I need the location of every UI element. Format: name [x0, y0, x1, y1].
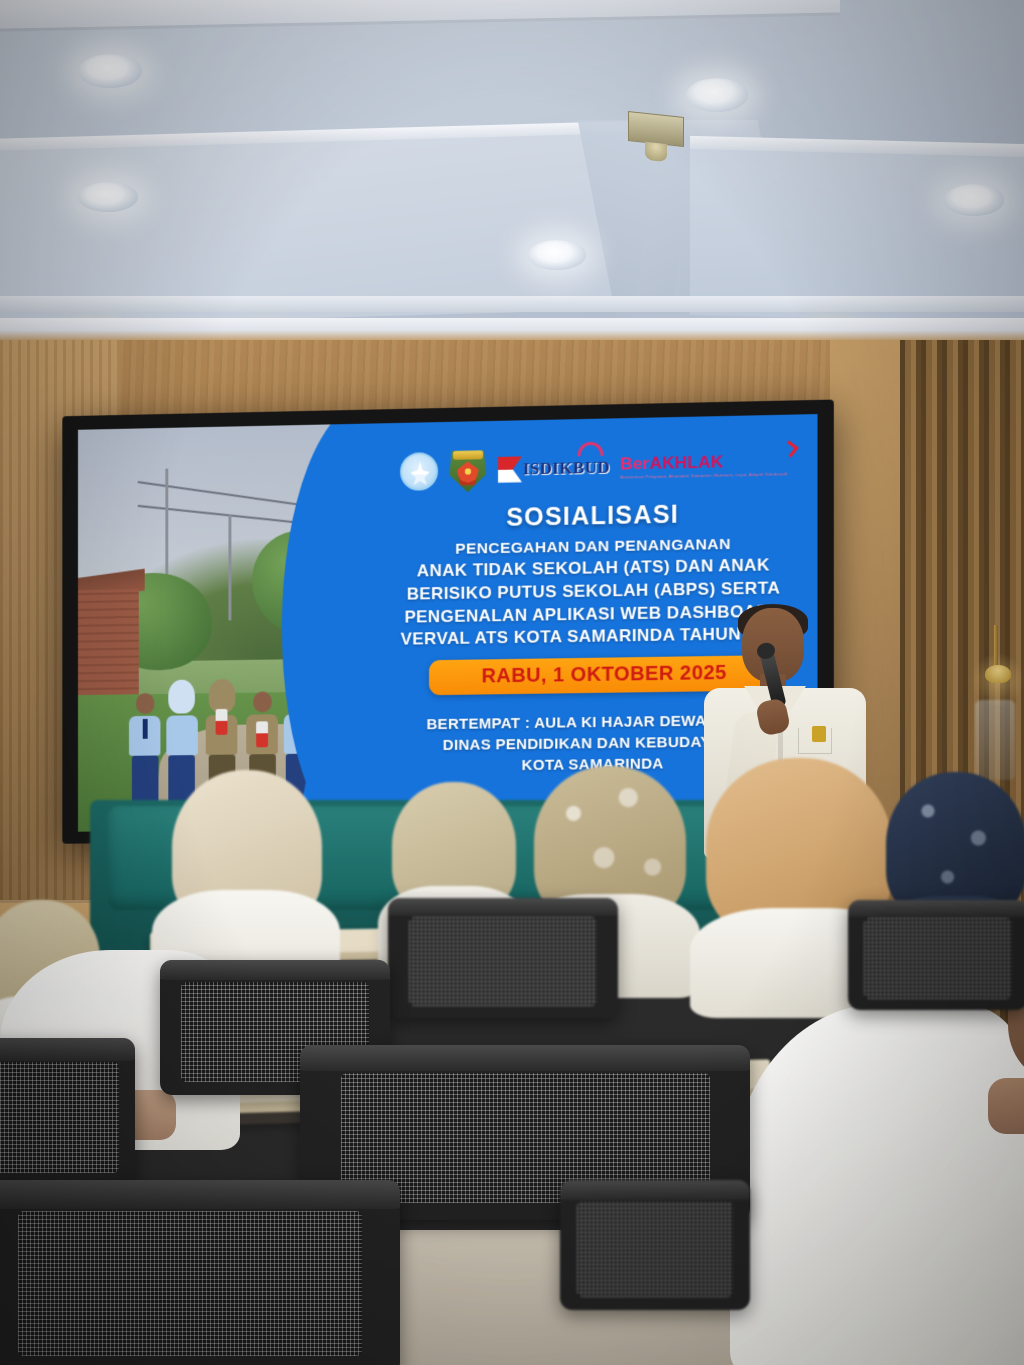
disdikbud-logo-icon: ISDIKBUD: [498, 452, 610, 484]
mesh-chair[interactable]: [0, 1038, 135, 1188]
photo-utility-pole: [229, 515, 232, 620]
ceiling-downlight: [78, 54, 142, 88]
berakhlak-prefix: Ber: [620, 453, 649, 473]
wall-sconce-icon: [985, 625, 1011, 695]
ceiling-slab-upper: [0, 0, 840, 32]
shoulders: [730, 1004, 1024, 1365]
meeting-room-photo: ISDIKBUD BerAKHLAK Berorientasi Pelayana…: [0, 0, 1024, 1365]
ceiling-downlight: [78, 182, 138, 212]
disdikbud-label: ISDIKBUD: [523, 457, 610, 479]
hand: [988, 1078, 1024, 1134]
samarinda-emblem-icon: [448, 448, 488, 493]
ceiling-downlight: [944, 184, 1004, 216]
berakhlak-main: AKHLAK: [649, 452, 723, 473]
berakhlak-logo-icon: BerAKHLAK Berorientasi Pelayanan, Akunta…: [620, 452, 787, 480]
crown-molding: [0, 318, 1024, 340]
ceiling-downlight: [528, 240, 586, 270]
sconce-glass-shade: [975, 700, 1015, 780]
mesh-chair[interactable]: [388, 898, 618, 1018]
photo-utility-pole: [165, 468, 168, 589]
smoke-detector: [628, 111, 684, 147]
mesh-chair[interactable]: [560, 1180, 750, 1310]
ceiling-downlight: [686, 78, 748, 112]
disdikbud-flag-icon: [498, 456, 522, 483]
mesh-chair[interactable]: [848, 900, 1024, 1010]
speaker-name-badge: [812, 726, 826, 742]
ceiling: [0, 0, 1024, 352]
kemendikbud-logo-icon: [400, 452, 438, 491]
ceiling-band: [0, 296, 1024, 312]
disdikbud-swirl-icon: [578, 441, 604, 456]
slide-logo-row: ISDIKBUD BerAKHLAK Berorientasi Pelayana…: [400, 437, 788, 498]
mesh-chair[interactable]: [0, 1180, 400, 1365]
